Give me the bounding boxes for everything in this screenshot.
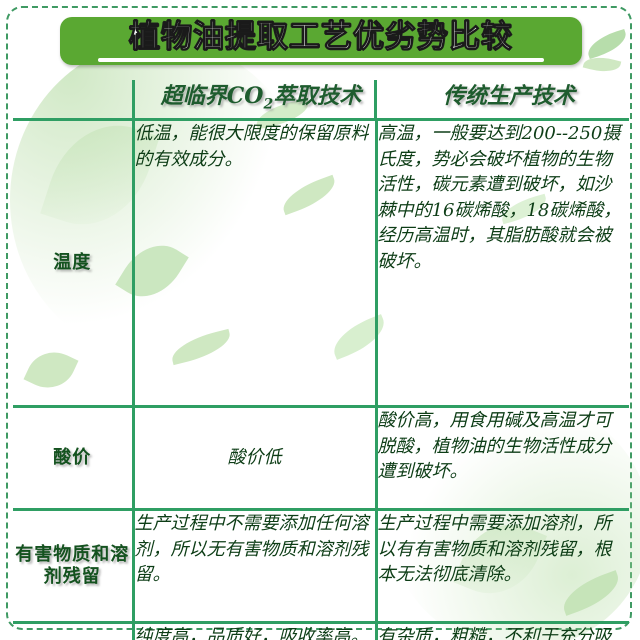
column-header-supercritical-subscript: 2	[263, 96, 273, 112]
row-label-acid-value: 酸价	[13, 407, 133, 510]
leaf-icon	[584, 29, 630, 59]
cell-acid-value-supercritical: 酸价低	[133, 407, 376, 510]
table-row: 酸价 酸价低 酸价高，用食用碱及高温才可脱酸，植物油的生物活性成分遭到破坏。	[13, 407, 629, 510]
column-header-supercritical: 超临界CO2萃取技术	[133, 76, 389, 118]
column-header-supercritical-pre: 超临界CO	[161, 83, 264, 109]
table-row: 质量 纯度高，品质好，吸收率高。 有杂质，粗糙，不利于充分吸收。	[13, 623, 629, 640]
leaf-icon	[583, 53, 622, 76]
cell-temperature-supercritical: 低温，能很大限度的保留原料的有效成分。	[133, 120, 376, 407]
title-banner: 植物油提取工艺优劣势比较	[60, 17, 582, 65]
column-header-traditional: 传统生产技术	[389, 76, 629, 118]
cell-temperature-traditional: 高温，一般要达到200--250摄氏度，势必会破坏植物的生物活性，碳元素遭到破坏…	[376, 120, 629, 407]
cell-acid-value-traditional: 酸价高，用食用碱及高温才可脱酸，植物油的生物活性成分遭到破坏。	[376, 407, 629, 510]
row-label-quality: 质量	[13, 623, 133, 640]
cell-quality-traditional: 有杂质，粗糙，不利于充分吸收。	[376, 623, 629, 640]
title-underline	[98, 58, 544, 62]
slide-root: 植物油提取工艺优劣势比较 超临界CO2萃取技术 传统生产技术 温度 低温，能很大…	[0, 0, 640, 640]
cell-harmful-residue-supercritical: 生产过程中不需要添加任何溶剂，所以无有害物质和溶剂残留。	[133, 510, 376, 623]
comparison-table: 温度 低温，能很大限度的保留原料的有效成分。 高温，一般要达到200--250摄…	[13, 118, 629, 640]
page-title: 植物油提取工艺优劣势比较	[60, 17, 582, 57]
cell-quality-supercritical: 纯度高，品质好，吸收率高。	[133, 623, 376, 640]
table-row: 温度 低温，能很大限度的保留原料的有效成分。 高温，一般要达到200--250摄…	[13, 120, 629, 407]
row-label-temperature: 温度	[13, 120, 133, 407]
cell-harmful-residue-traditional: 生产过程中需要添加溶剂，所以有有害物质和溶剂残留，根本无法彻底清除。	[376, 510, 629, 623]
table-row: 有害物质和溶剂残留 生产过程中不需要添加任何溶剂，所以无有害物质和溶剂残留。 生…	[13, 510, 629, 623]
column-header-supercritical-post: 萃取技术	[273, 83, 361, 109]
row-label-harmful-residue: 有害物质和溶剂残留	[13, 510, 133, 623]
table-column-headers: 超临界CO2萃取技术 传统生产技术	[13, 76, 629, 118]
